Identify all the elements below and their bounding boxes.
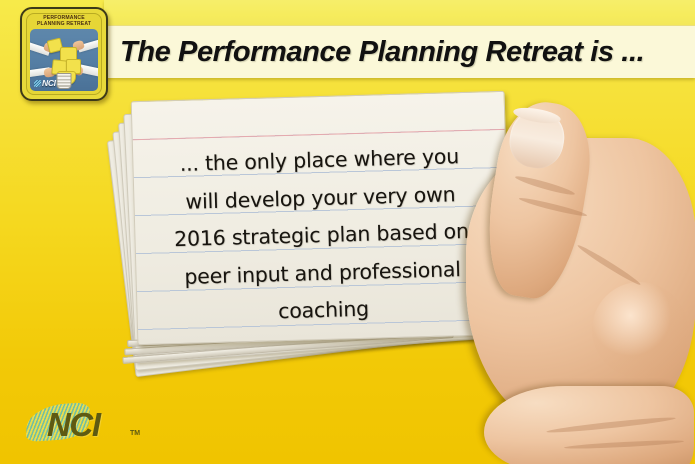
header-banner: The Performance Planning Retreat is ... — [104, 0, 695, 78]
trademark-symbol: TM — [130, 430, 140, 437]
retreat-badge-logo: Performance Planning Retreat — [20, 7, 108, 101]
index-card-front: ... the only place where you will develo… — [131, 91, 512, 345]
badge-inner-frame: Performance Planning Retreat — [26, 13, 102, 95]
skin-crease — [576, 243, 642, 287]
badge-brand-text: NCI — [42, 78, 56, 88]
nci-logo: NCI TM — [27, 402, 145, 448]
finger-shape — [484, 386, 694, 464]
slide-canvas: The Performance Planning Retreat is ... … — [0, 0, 695, 464]
banner-accent-strip — [104, 0, 695, 26]
nci-logo-text: NCI — [47, 406, 100, 444]
badge-brand-mark: NCI — [34, 78, 56, 88]
page-title: The Performance Planning Retreat is ... — [120, 26, 644, 78]
badge-caption-line-2: Planning Retreat — [27, 21, 101, 27]
badge-caption: Performance Planning Retreat — [27, 15, 101, 28]
index-card-stack: ... the only place where you will develo… — [118, 88, 518, 378]
hands-puzzle-lightbulb-icon: NCI — [30, 29, 98, 91]
thumbnail-tip — [512, 105, 562, 126]
lightbulb-base-icon — [57, 73, 72, 89]
swoosh-icon — [34, 80, 41, 87]
skin-crease — [546, 415, 676, 435]
skin-crease — [514, 174, 576, 198]
skin-crease — [564, 439, 684, 450]
knuckle-highlight — [592, 282, 688, 378]
skin-crease — [518, 196, 587, 219]
card-message: ... the only place where you will develo… — [147, 137, 496, 334]
